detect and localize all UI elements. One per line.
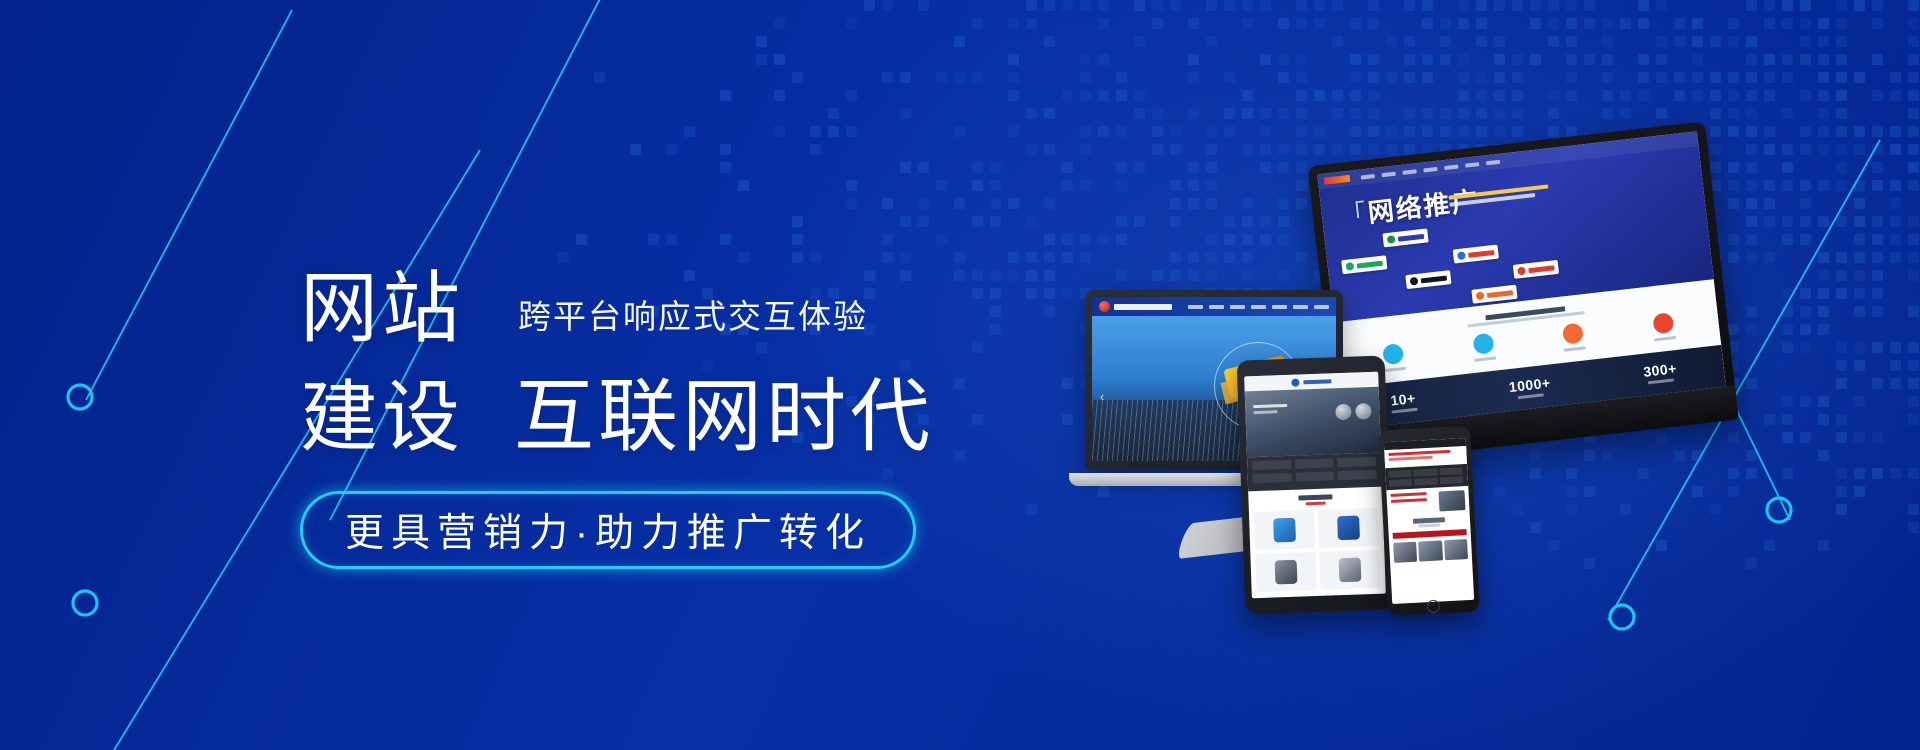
map-dot — [1908, 234, 1919, 245]
map-dot — [990, 198, 1001, 209]
map-dot — [1728, 36, 1739, 47]
map-dot — [1566, 54, 1577, 65]
map-dot — [1062, 414, 1073, 425]
nav-item[interactable] — [1381, 171, 1395, 177]
slogan-badge-text: 更具营销力·助力推广转化 — [345, 502, 871, 558]
nav-item[interactable] — [1423, 166, 1437, 172]
map-dot — [1152, 18, 1163, 29]
map-dot — [1908, 216, 1919, 227]
map-dot — [1908, 54, 1919, 65]
map-dot — [1494, 0, 1505, 11]
map-dot — [630, 144, 641, 155]
map-dot — [990, 162, 1001, 173]
platform-chip[interactable] — [1382, 228, 1428, 247]
map-dot — [756, 54, 767, 65]
map-dot — [1494, 54, 1505, 65]
map-dot — [972, 72, 983, 83]
tablet-product-card[interactable] — [1255, 552, 1316, 592]
map-dot — [1818, 18, 1829, 29]
laptop-nav-item[interactable] — [1272, 305, 1287, 309]
map-dot — [774, 18, 785, 29]
map-dot — [666, 144, 677, 155]
phone-product-card[interactable] — [1444, 539, 1468, 560]
map-dot — [1134, 0, 1145, 11]
map-dot — [972, 18, 983, 29]
service-item[interactable] — [1471, 333, 1496, 362]
map-dot — [1602, 18, 1613, 29]
map-dot — [1476, 108, 1487, 119]
stat-item: 300+ — [1643, 361, 1679, 386]
tablet-hero — [1245, 387, 1381, 458]
map-dot — [1242, 108, 1253, 119]
map-dot — [1674, 72, 1685, 83]
map-dot — [1908, 378, 1919, 389]
map-dot — [1152, 126, 1163, 137]
map-dot — [1080, 54, 1091, 65]
map-dot — [882, 0, 893, 11]
map-dot — [1332, 0, 1343, 11]
map-dot — [1548, 126, 1559, 137]
laptop-carousel-prev-icon[interactable]: ‹ — [1100, 389, 1104, 404]
map-dot — [1494, 90, 1505, 101]
map-dot — [1476, 36, 1487, 47]
map-dot — [1206, 0, 1217, 11]
map-dot — [1908, 306, 1919, 317]
map-dot — [1584, 18, 1595, 29]
map-dot — [1368, 90, 1379, 101]
map-dot — [1368, 72, 1379, 83]
map-dot — [1782, 54, 1793, 65]
map-dot — [954, 198, 965, 209]
map-dot — [1548, 36, 1559, 47]
map-dot — [1890, 234, 1901, 245]
map-dot — [1620, 90, 1631, 101]
tablet-product-card[interactable] — [1319, 550, 1380, 590]
map-dot — [1476, 0, 1487, 11]
map-dot — [1584, 54, 1595, 65]
map-dot — [1782, 0, 1793, 11]
map-dot — [1368, 18, 1379, 29]
map-dot — [1656, 72, 1667, 83]
stat-item: 10+ — [1389, 390, 1417, 414]
map-dot — [1188, 72, 1199, 83]
map-dot — [954, 72, 965, 83]
map-dot — [972, 180, 983, 191]
map-dot — [1224, 0, 1235, 11]
map-dot — [1242, 0, 1253, 11]
map-dot — [1260, 108, 1271, 119]
map-dot — [1332, 90, 1343, 101]
map-dot — [900, 72, 911, 83]
map-dot — [1026, 144, 1037, 155]
map-dot — [1728, 72, 1739, 83]
map-dot — [1314, 18, 1325, 29]
map-dot — [954, 36, 965, 47]
map-dot — [1404, 0, 1415, 11]
map-dot — [900, 108, 911, 119]
laptop-nav-item[interactable] — [1314, 305, 1329, 309]
phone-nav-item[interactable] — [1439, 467, 1463, 475]
headline-row-1: 网站 跨平台响应式交互体验 — [300, 255, 1060, 351]
map-dot — [1062, 252, 1073, 263]
map-dot — [1800, 126, 1811, 137]
map-dot — [1764, 72, 1775, 83]
map-dot — [666, 234, 677, 245]
map-dot — [1656, 54, 1667, 65]
hero-banner: 网站 跨平台响应式交互体验 建设 互联网时代 更具营销力·助力推广转化 — [0, 0, 1920, 750]
map-dot — [1818, 54, 1829, 65]
phone-nav-item[interactable] — [1389, 479, 1413, 487]
tablet-menu-item[interactable] — [1252, 460, 1291, 470]
map-dot — [738, 180, 749, 191]
map-dot — [1458, 108, 1469, 119]
tablet-brand-name — [1303, 379, 1331, 384]
map-dot — [1728, 18, 1739, 29]
tablet-menu-item[interactable] — [1253, 473, 1292, 483]
laptop-brand-name — [1114, 304, 1172, 310]
map-dot — [1296, 108, 1307, 119]
map-dot — [1368, 108, 1379, 119]
map-dot — [1062, 162, 1073, 173]
headline-primary-line2: 建设 — [300, 373, 464, 461]
map-dot — [1602, 90, 1613, 101]
tablet-menu-item[interactable] — [1337, 457, 1376, 467]
platform-chip[interactable] — [1513, 260, 1559, 279]
device-mockup-cluster: 「网络推广 — [1085, 140, 1885, 640]
map-dot — [1872, 90, 1883, 101]
map-dot — [1836, 108, 1847, 119]
phone-product-card[interactable] — [1393, 542, 1417, 563]
map-dot — [774, 54, 785, 65]
headline-row-2: 建设 互联网时代 — [300, 357, 1060, 461]
map-dot — [1512, 72, 1523, 83]
map-dot — [1296, 18, 1307, 29]
phone-nav-item[interactable] — [1414, 469, 1438, 477]
map-dot — [1458, 54, 1469, 65]
map-dot — [1836, 54, 1847, 65]
map-dot — [720, 90, 731, 101]
map-dot — [1872, 126, 1883, 137]
map-dot — [1746, 36, 1757, 47]
map-dot — [1224, 108, 1235, 119]
map-dot — [972, 162, 983, 173]
map-dot — [1458, 126, 1469, 137]
stat-value: 10+ — [1389, 390, 1417, 409]
map-dot — [1026, 108, 1037, 119]
platform-chip[interactable] — [1405, 270, 1451, 289]
map-dot — [1836, 90, 1847, 101]
map-dot — [1872, 18, 1883, 29]
map-dot — [1566, 72, 1577, 83]
map-dot — [1674, 18, 1685, 29]
map-dot — [1602, 72, 1613, 83]
map-dot — [1008, 126, 1019, 137]
tablet-hero-text — [1253, 404, 1287, 417]
map-dot — [1440, 108, 1451, 119]
map-dot — [1890, 126, 1901, 137]
map-dot — [1134, 36, 1145, 47]
map-dot — [990, 180, 1001, 191]
laptop-nav-item[interactable] — [1188, 305, 1203, 309]
phone-nav-item[interactable] — [1414, 478, 1438, 486]
map-dot — [1530, 54, 1541, 65]
map-dot — [936, 234, 947, 245]
map-dot — [1890, 342, 1901, 353]
map-dot — [1476, 126, 1487, 137]
map-dot — [1638, 54, 1649, 65]
map-dot — [1170, 126, 1181, 137]
map-dot — [1746, 0, 1757, 11]
map-dot — [1458, 90, 1469, 101]
map-dot — [1440, 36, 1451, 47]
map-dot — [1296, 54, 1307, 65]
tablet-product-card[interactable] — [1254, 510, 1315, 550]
service-item[interactable] — [1561, 322, 1586, 351]
map-dot — [1242, 18, 1253, 29]
map-dot — [1800, 90, 1811, 101]
map-dot — [918, 216, 929, 227]
map-dot — [774, 126, 785, 137]
map-dot — [918, 162, 929, 173]
laptop-nav-links — [1188, 305, 1329, 309]
map-dot — [1512, 54, 1523, 65]
map-dot — [1566, 18, 1577, 29]
map-dot — [1224, 126, 1235, 137]
tablet-menu-item[interactable] — [1295, 458, 1334, 468]
map-dot — [1098, 54, 1109, 65]
map-dot — [1350, 126, 1361, 137]
map-dot — [720, 234, 731, 245]
map-dot — [1206, 36, 1217, 47]
map-dot — [1188, 108, 1199, 119]
map-dot — [1908, 396, 1919, 407]
tablet-section-title — [1298, 494, 1332, 500]
map-dot — [576, 234, 587, 245]
map-dot — [1206, 126, 1217, 137]
map-dot — [1908, 18, 1919, 29]
map-dot — [1026, 0, 1037, 11]
laptop-nav-item[interactable] — [1209, 305, 1224, 309]
map-dot — [1656, 36, 1667, 47]
tablet-menu-item[interactable] — [1338, 470, 1377, 480]
tablet-logo-icon — [1291, 378, 1299, 386]
map-dot — [1908, 414, 1919, 425]
map-dot — [648, 234, 659, 245]
map-dot — [1566, 90, 1577, 101]
map-dot — [1404, 126, 1415, 137]
map-dot — [1458, 72, 1469, 83]
map-dot — [1530, 18, 1541, 29]
stat-value: 300+ — [1643, 361, 1678, 381]
map-dot — [1818, 36, 1829, 47]
map-dot — [1692, 18, 1703, 29]
map-dot — [1188, 54, 1199, 65]
map-dot — [1386, 72, 1397, 83]
nav-item[interactable] — [1361, 174, 1375, 180]
map-dot — [1800, 36, 1811, 47]
map-dot — [918, 0, 929, 11]
map-dot — [1044, 144, 1055, 155]
map-dot — [1368, 54, 1379, 65]
map-dot — [1782, 108, 1793, 119]
map-dot — [1890, 252, 1901, 263]
map-dot — [1548, 90, 1559, 101]
map-dot — [1404, 54, 1415, 65]
phone-section-subtitle — [1418, 523, 1440, 527]
map-dot — [1008, 18, 1019, 29]
map-dot — [1350, 90, 1361, 101]
map-dot — [1728, 108, 1739, 119]
nav-item[interactable] — [1444, 164, 1458, 170]
map-dot — [1836, 126, 1847, 137]
map-dot — [1350, 108, 1361, 119]
map-dot — [1008, 90, 1019, 101]
map-dot — [1134, 108, 1145, 119]
map-dot — [1260, 126, 1271, 137]
platform-chip[interactable] — [1453, 245, 1499, 264]
map-dot — [1710, 36, 1721, 47]
map-dot — [1062, 0, 1073, 11]
map-dot — [1710, 90, 1721, 101]
deco-line-2 — [86, 10, 292, 400]
map-dot — [1260, 54, 1271, 65]
map-dot — [1440, 18, 1451, 29]
map-dot — [1908, 522, 1919, 533]
map-dot — [1890, 144, 1901, 155]
map-dot — [1710, 108, 1721, 119]
map-dot — [1872, 0, 1883, 11]
tablet-product-card[interactable] — [1318, 508, 1379, 548]
map-dot — [1818, 90, 1829, 101]
map-dot — [1296, 90, 1307, 101]
map-dot — [1620, 108, 1631, 119]
phone-product-card[interactable] — [1418, 540, 1442, 561]
map-dot — [1746, 90, 1757, 101]
service-item[interactable] — [1651, 312, 1676, 341]
map-dot — [1728, 90, 1739, 101]
map-dot — [1782, 72, 1793, 83]
laptop-nav-item[interactable] — [1293, 305, 1308, 309]
map-dot — [1332, 36, 1343, 47]
map-dot — [1296, 0, 1307, 11]
map-dot — [1224, 72, 1235, 83]
map-dot — [1764, 18, 1775, 29]
map-dot — [1296, 126, 1307, 137]
map-dot — [792, 72, 803, 83]
phone-home-button[interactable] — [1427, 600, 1441, 614]
laptop-brand-logo-icon — [1099, 301, 1110, 312]
map-dot — [1422, 0, 1433, 11]
map-dot — [1134, 90, 1145, 101]
map-dot — [1836, 0, 1847, 11]
map-dot — [1710, 72, 1721, 83]
map-dot — [792, 234, 803, 245]
map-dot — [1908, 90, 1919, 101]
map-dot — [1746, 72, 1757, 83]
stat-caption — [1518, 394, 1544, 400]
phone-body — [1378, 426, 1480, 617]
map-dot — [1602, 36, 1613, 47]
platform-chip[interactable] — [1341, 255, 1387, 274]
headline-subtitle: 跨平台响应式交互体验 — [518, 297, 868, 351]
map-dot — [720, 144, 731, 155]
map-dot — [1890, 468, 1901, 479]
map-dot — [1476, 72, 1487, 83]
map-dot — [1800, 0, 1811, 11]
map-dot — [1062, 180, 1073, 191]
laptop-nav-item[interactable] — [1230, 305, 1245, 309]
map-dot — [1098, 18, 1109, 29]
map-dot — [1332, 108, 1343, 119]
map-dot — [1746, 126, 1757, 137]
map-dot — [846, 198, 857, 209]
tablet-menu-item[interactable] — [1295, 471, 1334, 481]
map-dot — [810, 126, 821, 137]
monitor-site-nav — [1361, 159, 1501, 179]
map-dot — [1548, 0, 1559, 11]
nav-item[interactable] — [1402, 169, 1416, 175]
map-dot — [990, 216, 1001, 227]
map-dot — [1782, 18, 1793, 29]
map-dot — [882, 72, 893, 83]
map-dot — [1638, 18, 1649, 29]
map-dot — [1890, 216, 1901, 227]
map-dot — [1656, 108, 1667, 119]
hero-copy-block: 网站 跨平台响应式交互体验 建设 互联网时代 更具营销力·助力推广转化 — [300, 255, 1060, 569]
nav-item[interactable] — [1486, 159, 1500, 165]
map-dot — [1638, 0, 1649, 11]
map-dot — [1080, 0, 1091, 11]
platform-chip[interactable] — [1471, 285, 1517, 304]
map-dot — [1044, 108, 1055, 119]
map-dot — [1674, 90, 1685, 101]
map-dot — [1350, 54, 1361, 65]
tablet-section-subtitle — [1306, 502, 1326, 506]
laptop-nav-item[interactable] — [1251, 305, 1266, 309]
phone-nav-item[interactable] — [1388, 470, 1412, 478]
map-dot — [1188, 18, 1199, 29]
map-dot — [1476, 18, 1487, 29]
service-item[interactable] — [1381, 343, 1406, 372]
map-dot — [1800, 18, 1811, 29]
map-dot — [1908, 36, 1919, 47]
map-dot — [1890, 198, 1901, 209]
map-dot — [1422, 72, 1433, 83]
map-dot — [774, 90, 785, 101]
map-dot — [1440, 126, 1451, 137]
map-dot — [1422, 108, 1433, 119]
map-dot — [1836, 36, 1847, 47]
phone-nav-item[interactable] — [1439, 476, 1463, 484]
map-dot — [1908, 144, 1919, 155]
nav-item[interactable] — [1465, 162, 1479, 168]
monitor-hero-bracket: 「 — [1338, 198, 1369, 231]
map-dot — [1152, 108, 1163, 119]
stat-value: 1000+ — [1508, 375, 1551, 396]
phone-product-grid — [1389, 539, 1472, 563]
map-dot — [1314, 90, 1325, 101]
map-dot — [864, 0, 875, 11]
headline-accent-phrase: 互联网时代 — [514, 373, 934, 461]
phone-red-strip — [1393, 529, 1467, 539]
map-dot — [684, 126, 695, 137]
map-dot — [1350, 72, 1361, 83]
map-dot — [1818, 126, 1829, 137]
map-dot — [1116, 126, 1127, 137]
map-dot — [1908, 360, 1919, 371]
map-dot — [1548, 18, 1559, 29]
map-dot — [594, 72, 605, 83]
